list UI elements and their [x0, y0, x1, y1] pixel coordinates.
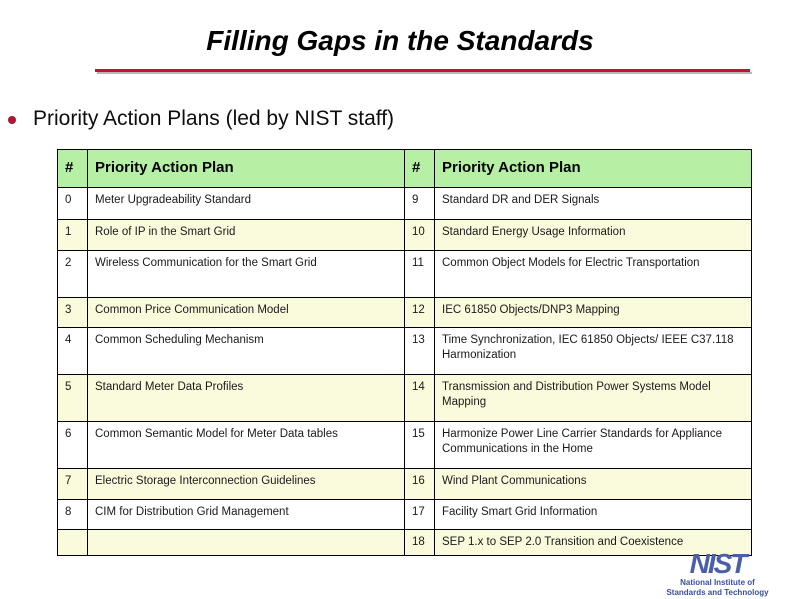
- cell-plan-right: Common Object Models for Electric Transp…: [435, 251, 752, 298]
- cell-num-left: 6: [58, 422, 88, 469]
- cell-num-right: 16: [405, 469, 435, 500]
- cell-plan-right: Facility Smart Grid Information: [435, 500, 752, 530]
- cell-num-right: 15: [405, 422, 435, 469]
- cell-num-right: 17: [405, 500, 435, 530]
- cell-plan-left: Common Semantic Model for Meter Data tab…: [88, 422, 405, 469]
- bullet-dot-icon: [8, 116, 16, 124]
- cell-plan-right: Standard Energy Usage Information: [435, 220, 752, 251]
- cell-num-right: 13: [405, 328, 435, 375]
- cell-plan-left: Meter Upgradeability Standard: [88, 188, 405, 220]
- priority-action-plan-table: # Priority Action Plan # Priority Action…: [57, 149, 752, 556]
- header-plan-left: Priority Action Plan: [88, 150, 405, 188]
- slide-title: Filling Gaps in the Standards: [0, 24, 800, 58]
- cell-num-left: 8: [58, 500, 88, 530]
- cell-plan-right: Transmission and Distribution Power Syst…: [435, 375, 752, 422]
- slide-title-text: Filling Gaps in the Standards: [206, 25, 593, 56]
- cell-plan-right: Time Synchronization, IEC 61850 Objects/…: [435, 328, 752, 375]
- cell-plan-right: Harmonize Power Line Carrier Standards f…: [435, 422, 752, 469]
- cell-plan-left: Electric Storage Interconnection Guideli…: [88, 469, 405, 500]
- cell-num-right: 12: [405, 298, 435, 328]
- nist-logo: NIST National Institute of Standards and…: [645, 551, 790, 597]
- cell-num-right: 10: [405, 220, 435, 251]
- table-row: 8 CIM for Distribution Grid Management 1…: [58, 500, 752, 530]
- cell-plan-left: CIM for Distribution Grid Management: [88, 500, 405, 530]
- cell-plan-right: Wind Plant Communications: [435, 469, 752, 500]
- cell-plan-left: Standard Meter Data Profiles: [88, 375, 405, 422]
- cell-plan-right: IEC 61850 Objects/DNP3 Mapping: [435, 298, 752, 328]
- table-header-row: # Priority Action Plan # Priority Action…: [58, 150, 752, 188]
- table-row: 7 Electric Storage Interconnection Guide…: [58, 469, 752, 500]
- cell-num-left: [58, 530, 88, 556]
- table-row: 3 Common Price Communication Model 12 IE…: [58, 298, 752, 328]
- cell-num-left: 5: [58, 375, 88, 422]
- table-row: 4 Common Scheduling Mechanism 13 Time Sy…: [58, 328, 752, 375]
- cell-num-right: 11: [405, 251, 435, 298]
- cell-num-left: 3: [58, 298, 88, 328]
- nist-wordmark-text: NIST: [645, 551, 790, 577]
- table-row: 1 Role of IP in the Smart Grid 10 Standa…: [58, 220, 752, 251]
- table-row: 6 Common Semantic Model for Meter Data t…: [58, 422, 752, 469]
- table-row: 0 Meter Upgradeability Standard 9 Standa…: [58, 188, 752, 220]
- cell-num-right: 18: [405, 530, 435, 556]
- cell-num-left: 4: [58, 328, 88, 375]
- cell-plan-right: Standard DR and DER Signals: [435, 188, 752, 220]
- table-row: 5 Standard Meter Data Profiles 14 Transm…: [58, 375, 752, 422]
- header-num-left: #: [58, 150, 88, 188]
- table-row: 2 Wireless Communication for the Smart G…: [58, 251, 752, 298]
- title-underline-shadow: [97, 72, 752, 74]
- cell-plan-left: Common Scheduling Mechanism: [88, 328, 405, 375]
- cell-num-left: 7: [58, 469, 88, 500]
- cell-plan-left: [88, 530, 405, 556]
- header-plan-right: Priority Action Plan: [435, 150, 752, 188]
- nist-tagline-line-1: National Institute of: [645, 578, 790, 587]
- cell-num-right: 9: [405, 188, 435, 220]
- bullet-line: Priority Action Plans (led by NIST staff…: [8, 105, 394, 133]
- nist-tagline-line-2: Standards and Technology: [645, 588, 790, 597]
- bullet-label: Priority Action Plans (led by NIST staff…: [33, 105, 394, 133]
- header-num-right: #: [405, 150, 435, 188]
- cell-plan-left: Common Price Communication Model: [88, 298, 405, 328]
- cell-num-left: 1: [58, 220, 88, 251]
- cell-num-left: 0: [58, 188, 88, 220]
- cell-num-left: 2: [58, 251, 88, 298]
- cell-num-right: 14: [405, 375, 435, 422]
- cell-plan-left: Role of IP in the Smart Grid: [88, 220, 405, 251]
- table-body: 0 Meter Upgradeability Standard 9 Standa…: [58, 188, 752, 556]
- cell-plan-left: Wireless Communication for the Smart Gri…: [88, 251, 405, 298]
